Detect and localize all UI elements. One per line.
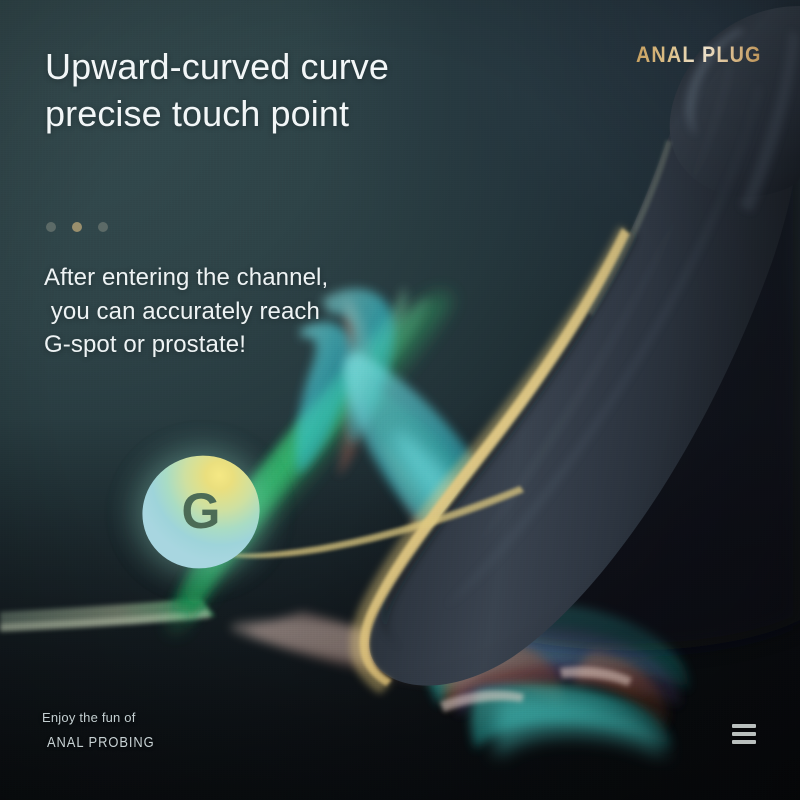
brand-logo: ANAL PLUG	[636, 44, 762, 66]
hamburger-icon[interactable]	[732, 724, 756, 744]
pagination-dot-1[interactable]	[46, 222, 56, 232]
hamburger-bar-2	[732, 732, 756, 736]
subcopy-line-2: you can accurately reach	[44, 295, 444, 329]
headline: Upward-curved curve precise touch point	[45, 43, 465, 137]
footer: Enjoy the fun of ANAL PROBING	[42, 708, 172, 752]
subcopy: After entering the channel, you can accu…	[44, 261, 444, 362]
g-badge-letter: G	[142, 456, 260, 568]
subcopy-line-3: G-spot or prostate!	[44, 328, 444, 362]
pagination-dot-2[interactable]	[72, 222, 82, 232]
footer-label: ANAL PROBING	[47, 733, 155, 753]
pagination-dots[interactable]	[46, 222, 108, 232]
footer-tagline: Enjoy the fun of	[42, 708, 172, 728]
g-spot-badge: G	[142, 456, 260, 568]
hamburger-bar-1	[732, 724, 756, 728]
hamburger-bar-3	[732, 740, 756, 744]
product-promo-banner: G ANAL PLUG Upward-curved curve precise …	[0, 0, 800, 800]
pagination-dot-3[interactable]	[98, 222, 108, 232]
subcopy-line-1: After entering the channel,	[44, 261, 444, 295]
